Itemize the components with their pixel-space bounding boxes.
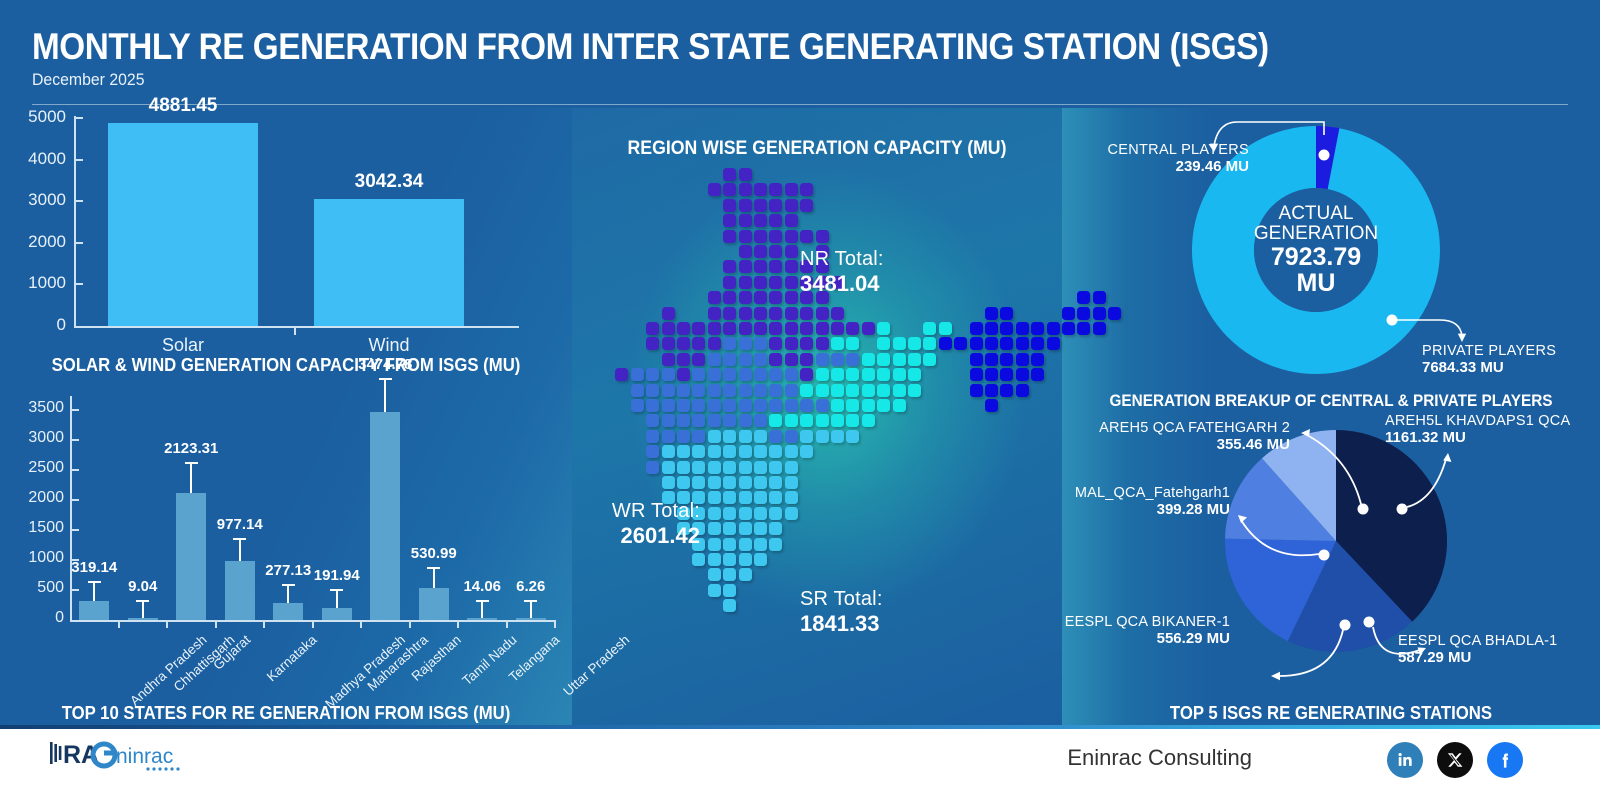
map-dot-N — [723, 276, 736, 289]
map-dot-N — [800, 199, 813, 212]
map-dot-W — [631, 368, 644, 381]
map-dot-E — [846, 384, 859, 397]
map-dot-W — [723, 384, 736, 397]
map-dot-W — [785, 384, 798, 397]
pie-label-name: AREH5 QCA FATEHGARH 2 — [1090, 420, 1290, 436]
map-dot-W — [646, 414, 659, 427]
y-tick-label: 2500 — [4, 459, 64, 477]
map-dot-T — [985, 368, 998, 381]
y-tick — [70, 589, 79, 591]
x-category-label: Wind — [294, 335, 484, 356]
map-dot-N — [816, 337, 829, 350]
bar-value-label: 9.04 — [97, 578, 189, 595]
map-dot-N — [739, 276, 752, 289]
map-dot-W — [723, 353, 736, 366]
map-dot-S — [723, 584, 736, 597]
map-dot-S — [739, 507, 752, 520]
pie-label-value: 587.29 MU — [1398, 649, 1598, 666]
map-dot-W — [677, 399, 690, 412]
map-dot-T — [1000, 353, 1013, 366]
map-dot-W — [708, 399, 721, 412]
map-dot-N — [739, 230, 752, 243]
caption-top10-states: TOP 10 STATES FOR RE GENERATION FROM ISG… — [20, 703, 552, 724]
map-dot-W — [754, 368, 767, 381]
map-dot-E — [893, 368, 906, 381]
map-dot-W — [692, 399, 705, 412]
map-dot-E — [816, 368, 829, 381]
map-dot-N — [723, 214, 736, 227]
map-dot-E — [800, 384, 813, 397]
map-dot-T — [1047, 337, 1060, 350]
caption-top5-stations: TOP 5 ISGS RE GENERATING STATIONS — [1081, 703, 1581, 724]
map-dot-E — [939, 322, 952, 335]
y-axis-line — [70, 396, 72, 620]
map-dot-N — [754, 230, 767, 243]
map-dot-S — [800, 430, 813, 443]
map-dot-N — [708, 307, 721, 320]
facebook-icon[interactable] — [1487, 742, 1523, 778]
x-category-label: Solar — [88, 335, 278, 356]
callout-private-value: 7684.33 MU — [1422, 359, 1597, 376]
map-dot-E — [846, 337, 859, 350]
top5-stations-pie — [1225, 430, 1447, 652]
map-dot-W — [646, 461, 659, 474]
map-dot-T — [970, 353, 983, 366]
map-dot-T — [970, 337, 983, 350]
error-bar — [239, 538, 241, 562]
map-dot-N — [723, 168, 736, 181]
map-dot-S — [769, 461, 782, 474]
map-dot-S — [723, 476, 736, 489]
map-dot-N — [739, 183, 752, 196]
map-dot-T — [1000, 337, 1013, 350]
pie-label-name: AREH5L KHAVDAPS1 QCA — [1385, 413, 1600, 429]
map-dot-N — [862, 322, 875, 335]
map-dot-N — [723, 291, 736, 304]
map-dot-E — [877, 384, 890, 397]
footer-accent-bar — [0, 725, 1600, 729]
map-dot-E — [816, 414, 829, 427]
map-dot-E — [877, 337, 890, 350]
logo-rac-mark: RA — [50, 741, 117, 769]
map-dot-S — [846, 430, 859, 443]
map-dot-T — [1077, 291, 1090, 304]
header: MONTHLY RE GENERATION FROM INTER STATE G… — [0, 0, 1600, 108]
map-dot-N — [831, 322, 844, 335]
map-dot-W — [646, 384, 659, 397]
map-dot-E — [862, 384, 875, 397]
y-tick-label: 3500 — [4, 399, 64, 417]
x-tick — [457, 620, 459, 628]
map-dot-S — [754, 476, 767, 489]
map-dot-S — [708, 584, 721, 597]
y-tick — [70, 529, 79, 531]
map-region-name: WR Total: — [572, 500, 700, 523]
error-bar — [190, 462, 192, 493]
map-dot-N — [754, 291, 767, 304]
y-tick-label: 4000 — [2, 149, 66, 169]
map-dot-S — [723, 461, 736, 474]
map-dot-N — [769, 230, 782, 243]
bar-value-label: 3042.34 — [314, 171, 464, 193]
map-dot-S — [692, 553, 705, 566]
pie-label-eespl-bikaner1: EESPL QCA BIKANER-1 556.29 MU — [1062, 614, 1230, 647]
map-dot-N — [769, 183, 782, 196]
pie-label-areh5-fatehgarh2: AREH5 QCA FATEHGARH 2 355.46 MU — [1090, 420, 1290, 453]
map-dot-W — [677, 430, 690, 443]
map-dot-N — [677, 322, 690, 335]
map-dot-E — [831, 384, 844, 397]
map-dot-N — [754, 183, 767, 196]
map-dot-N — [769, 291, 782, 304]
map-dot-T — [954, 337, 967, 350]
callout-private-name: PRIVATE PLAYERS — [1422, 343, 1597, 359]
pie-label-name: EESPL QCA BHADLA-1 — [1398, 633, 1598, 649]
map-dot-S — [754, 507, 767, 520]
map-dot-N — [754, 245, 767, 258]
map-dot-T — [1077, 307, 1090, 320]
map-dot-S — [708, 491, 721, 504]
error-bar — [142, 600, 144, 618]
y-tick — [74, 159, 83, 161]
bar-state-0[interactable] — [79, 601, 109, 620]
map-dot-T — [1093, 322, 1106, 335]
bar-solar[interactable] — [108, 123, 258, 326]
map-dot-N — [739, 307, 752, 320]
map-dot-W — [785, 430, 798, 443]
map-dot-W — [723, 368, 736, 381]
x-twitter-icon[interactable] — [1437, 742, 1473, 778]
map-dot-E — [893, 353, 906, 366]
bar-state-1[interactable] — [128, 618, 158, 620]
map-dot-N — [785, 183, 798, 196]
linkedin-icon[interactable] — [1387, 742, 1423, 778]
y-tick — [70, 409, 79, 411]
map-dot-N — [785, 230, 798, 243]
map-dot-T — [1016, 353, 1029, 366]
bar-state-9[interactable] — [516, 618, 546, 620]
map-dot-N — [708, 183, 721, 196]
error-bar — [287, 584, 289, 604]
y-tick — [74, 117, 83, 119]
map-dot-S — [785, 476, 798, 489]
map-dot-N — [739, 291, 752, 304]
map-dot-N — [692, 353, 705, 366]
error-bar-cap — [427, 567, 440, 569]
map-dot-T — [1000, 368, 1013, 381]
map-dot-E — [862, 399, 875, 412]
error-bar — [433, 567, 435, 588]
map-dot-E — [908, 337, 921, 350]
map-dot-S — [754, 461, 767, 474]
error-bar-cap — [524, 600, 537, 602]
map-dot-T — [985, 322, 998, 335]
map-dot-S — [723, 430, 736, 443]
caption-generation-breakup: GENERATION BREAKUP OF CENTRAL & PRIVATE … — [1081, 392, 1581, 411]
map-dot-N — [785, 260, 798, 273]
map-region-value: 3481.04 — [800, 271, 884, 297]
map-dot-E — [831, 399, 844, 412]
bar-state-8[interactable] — [467, 618, 497, 620]
map-dot-S — [708, 430, 721, 443]
map-dot-N — [754, 276, 767, 289]
map-dot-S — [692, 461, 705, 474]
map-dot-S — [662, 476, 675, 489]
map-region-value: 2601.42 — [572, 523, 700, 549]
map-dot-W — [677, 414, 690, 427]
map-dot-S — [723, 507, 736, 520]
map-dot-N — [816, 230, 829, 243]
map-dot-T — [985, 384, 998, 397]
map-dot-S — [677, 445, 690, 458]
bar-value-label: 977.14 — [194, 516, 286, 533]
map-dot-E — [831, 337, 844, 350]
map-dot-N — [769, 214, 782, 227]
x-tick — [554, 620, 556, 628]
map-dot-W — [800, 399, 813, 412]
map-dot-S — [739, 568, 752, 581]
map-label-wr: WR Total: 2601.42 — [572, 500, 700, 549]
map-dot-N — [723, 199, 736, 212]
map-dot-E — [908, 353, 921, 366]
map-dot-N — [662, 337, 675, 350]
y-tick-label: 2000 — [4, 489, 64, 507]
callout-central-name: CENTRAL PLAYERS — [1084, 142, 1249, 158]
x-tick — [312, 620, 314, 628]
y-tick — [74, 200, 83, 202]
map-dot-S — [708, 553, 721, 566]
map-dot-N — [785, 322, 798, 335]
caption-region-map: REGION WISE GENERATION CAPACITY (MU) — [589, 138, 1045, 160]
map-dot-N — [800, 322, 813, 335]
map-dot-W — [739, 414, 752, 427]
map-dot-N — [769, 353, 782, 366]
y-tick-label: 500 — [4, 579, 64, 597]
y-tick — [70, 439, 79, 441]
map-dot-S — [785, 491, 798, 504]
map-dot-N — [754, 214, 767, 227]
map-dot-E — [893, 384, 906, 397]
map-dot-W — [785, 399, 798, 412]
map-dot-W — [631, 384, 644, 397]
pie-label-value: 355.46 MU — [1090, 436, 1290, 453]
map-dot-N — [769, 260, 782, 273]
footer — [0, 725, 1600, 800]
map-dot-T — [985, 399, 998, 412]
map-dot-N — [754, 260, 767, 273]
callout-central-value: 239.46 MU — [1084, 158, 1249, 175]
map-dot-S — [739, 538, 752, 551]
x-tick — [360, 620, 362, 628]
map-dot-E — [877, 399, 890, 412]
y-tick-label: 3000 — [2, 190, 66, 210]
map-dot-S — [739, 445, 752, 458]
map-dot-N — [800, 368, 813, 381]
x-tick — [263, 620, 265, 628]
map-dot-T — [985, 353, 998, 366]
bar-wind[interactable] — [314, 199, 464, 326]
map-dot-E — [908, 384, 921, 397]
map-dot-W — [754, 399, 767, 412]
map-dot-W — [846, 353, 859, 366]
bar-value-label: 319.14 — [48, 559, 140, 576]
left-panel — [0, 108, 572, 725]
map-dot-N — [800, 307, 813, 320]
map-dot-N — [769, 322, 782, 335]
map-dot-W — [692, 368, 705, 381]
map-dot-S — [816, 430, 829, 443]
map-dot-N — [708, 291, 721, 304]
map-dot-T — [939, 337, 952, 350]
map-dot-N — [831, 307, 844, 320]
map-dot-S — [723, 568, 736, 581]
map-dot-N — [739, 245, 752, 258]
map-dot-N — [800, 230, 813, 243]
map-dot-T — [1000, 307, 1013, 320]
bar-state-4[interactable] — [273, 603, 303, 620]
bar-state-6[interactable] — [370, 412, 400, 620]
map-dot-N — [769, 307, 782, 320]
donut-center-value: 7923.79MU — [1271, 244, 1361, 296]
map-dot-S — [769, 476, 782, 489]
map-dot-T — [1016, 368, 1029, 381]
map-dot-E — [831, 414, 844, 427]
pie-label-name: MAL_QCA_Fatehgarh1 — [1062, 485, 1230, 501]
y-axis-line — [74, 116, 76, 326]
map-dot-S — [723, 491, 736, 504]
map-dot-W — [708, 384, 721, 397]
map-dot-S — [769, 445, 782, 458]
map-dot-N — [800, 353, 813, 366]
map-dot-N — [677, 368, 690, 381]
map-dot-S — [785, 445, 798, 458]
y-tick-label: 2000 — [2, 232, 66, 252]
map-dot-W — [769, 430, 782, 443]
logo-wordmark: ninrac — [116, 745, 173, 768]
map-dot-T — [970, 322, 983, 335]
map-dot-T — [985, 307, 998, 320]
map-dot-N — [785, 276, 798, 289]
y-tick-label: 0 — [2, 315, 66, 335]
pie-label-mal-fatehgarh1: MAL_QCA_Fatehgarh1 399.28 MU — [1062, 485, 1230, 518]
map-dot-T — [1077, 322, 1090, 335]
map-dot-W — [769, 399, 782, 412]
map-dot-W — [723, 399, 736, 412]
map-dot-W — [662, 368, 675, 381]
map-dot-N — [692, 322, 705, 335]
map-dot-W — [769, 368, 782, 381]
map-dot-W — [723, 337, 736, 350]
map-dot-W — [831, 353, 844, 366]
map-dot-S — [785, 507, 798, 520]
map-dot-N — [846, 322, 859, 335]
map-dot-N — [677, 337, 690, 350]
map-dot-W — [785, 368, 798, 381]
map-dot-S — [739, 461, 752, 474]
error-bar — [481, 600, 483, 618]
map-dot-S — [754, 522, 767, 535]
map-dot-N — [816, 322, 829, 335]
map-dot-N — [692, 337, 705, 350]
x-tick — [294, 326, 296, 335]
x-tick — [409, 620, 411, 628]
map-dot-S — [708, 522, 721, 535]
map-dot-E — [800, 414, 813, 427]
map-dot-N — [785, 214, 798, 227]
map-dot-N — [816, 307, 829, 320]
map-dot-S — [677, 476, 690, 489]
map-dot-S — [754, 491, 767, 504]
map-dot-N — [739, 214, 752, 227]
map-dot-S — [769, 491, 782, 504]
bar-value-label: 191.94 — [291, 567, 383, 584]
map-dot-T — [970, 384, 983, 397]
map-dot-N — [723, 260, 736, 273]
donut-center-title: ACTUAL GENERATION — [1254, 204, 1378, 245]
bar-state-5[interactable] — [322, 608, 352, 620]
map-dot-W — [662, 399, 675, 412]
map-dot-W — [754, 353, 767, 366]
error-bar-cap — [379, 378, 392, 380]
map-dot-N — [769, 337, 782, 350]
x-axis-line — [74, 326, 519, 328]
bar-value-label: 530.99 — [388, 545, 480, 562]
map-region-name: NR Total: — [800, 248, 884, 271]
page-subtitle: December 2025 — [32, 70, 145, 90]
map-dot-W — [631, 399, 644, 412]
error-bar-cap — [185, 462, 198, 464]
map-region-name: SR Total: — [800, 588, 883, 611]
map-dot-N — [708, 337, 721, 350]
page-title: MONTHLY RE GENERATION FROM INTER STATE G… — [32, 26, 1269, 68]
map-dot-E — [877, 368, 890, 381]
map-dot-W — [739, 384, 752, 397]
map-dot-W — [739, 337, 752, 350]
map-dot-E — [846, 399, 859, 412]
map-dot-S — [723, 599, 736, 612]
map-dot-W — [662, 384, 675, 397]
map-dot-N — [739, 168, 752, 181]
map-dot-E — [893, 337, 906, 350]
map-dot-S — [754, 445, 767, 458]
map-dot-N — [769, 245, 782, 258]
map-dot-N — [662, 353, 675, 366]
map-dot-N — [677, 353, 690, 366]
map-dot-E — [877, 353, 890, 366]
map-dot-T — [985, 337, 998, 350]
map-dot-W — [754, 384, 767, 397]
map-dot-S — [754, 553, 767, 566]
map-dot-S — [723, 445, 736, 458]
map-dot-W — [754, 337, 767, 350]
map-dot-E — [862, 353, 875, 366]
eninrac-logo[interactable]: RA ninrac — [48, 736, 228, 776]
map-dot-N — [800, 337, 813, 350]
map-dot-S — [708, 445, 721, 458]
map-dot-N — [754, 322, 767, 335]
error-bar-cap — [330, 589, 343, 591]
y-tick — [70, 499, 79, 501]
y-tick-label: 1000 — [2, 273, 66, 293]
y-tick — [74, 242, 83, 244]
map-dot-W — [646, 399, 659, 412]
callout-central-players: CENTRAL PLAYERS 239.46 MU — [1084, 142, 1249, 175]
map-dot-N — [646, 337, 659, 350]
error-bar — [384, 378, 386, 412]
bar-state-2[interactable] — [176, 493, 206, 620]
map-dot-S — [785, 461, 798, 474]
caption-solar-wind: SOLAR & WIND GENERATION CAPACITY FROM IS… — [20, 355, 552, 376]
